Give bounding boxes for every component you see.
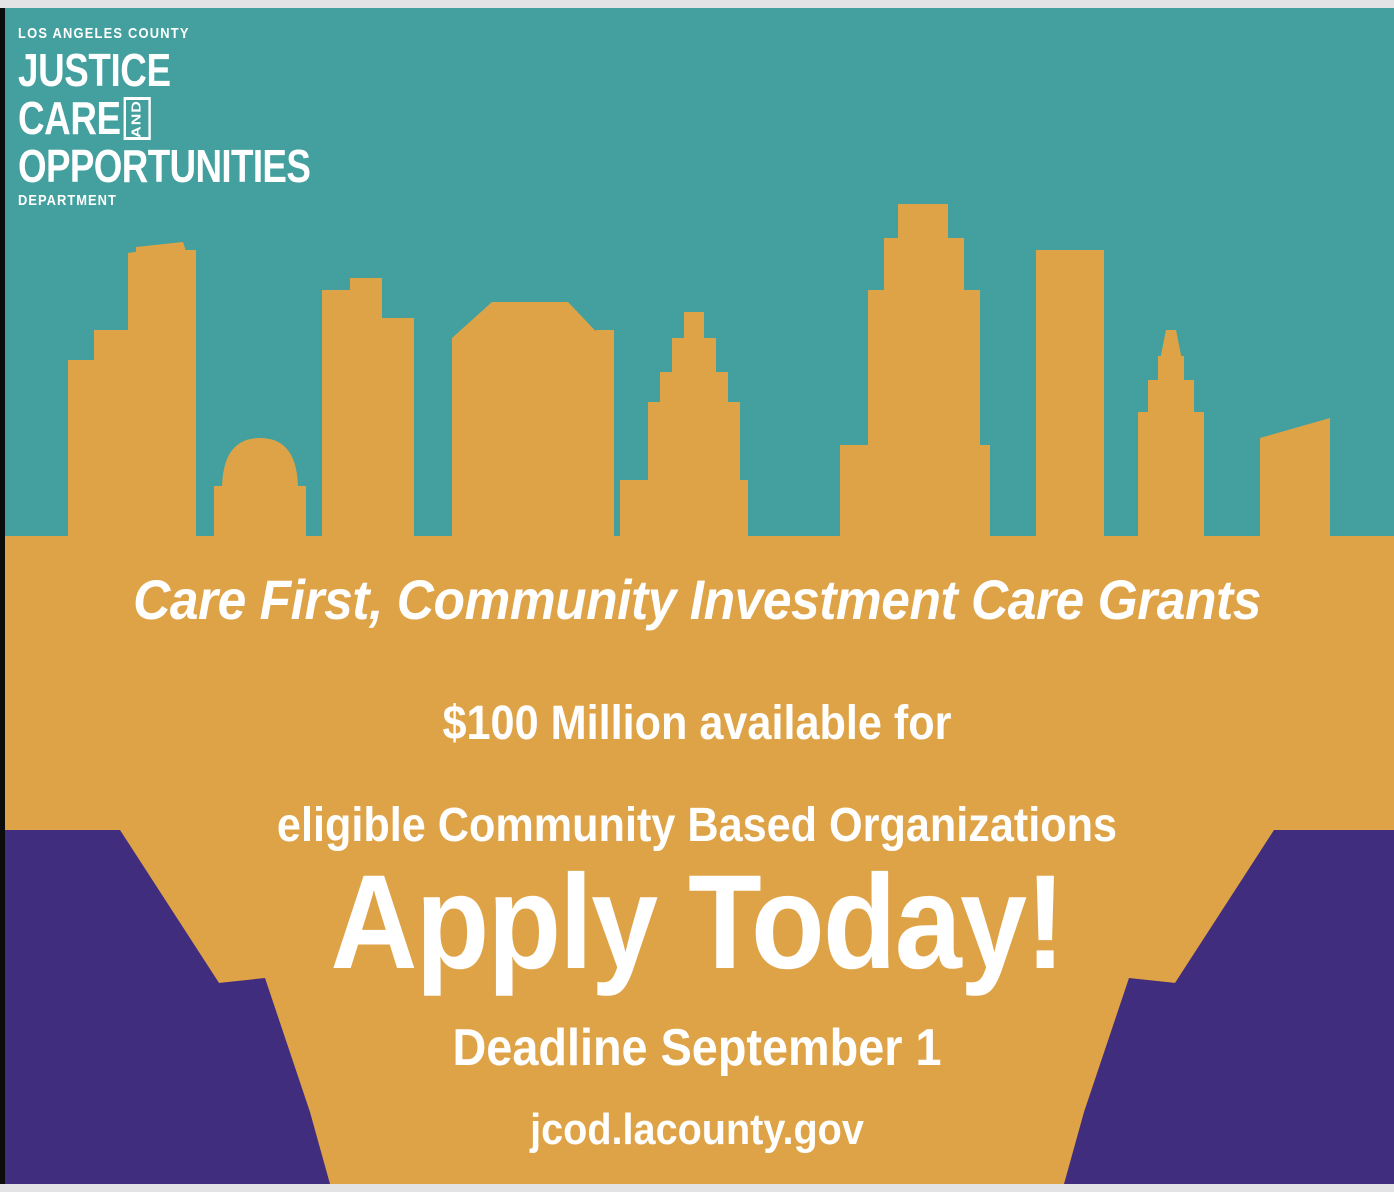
cta-website-url[interactable]: jcod.lacounty.gov — [70, 1074, 1325, 1152]
logo-row-care-and: CARE AND — [18, 95, 310, 141]
logo-and-badge: AND — [124, 97, 151, 140]
poster-subline-amount: $100 Million available for — [70, 628, 1325, 748]
copy-block: Care First, Community Investment Care Gr… — [0, 536, 1394, 850]
top-edge-strip — [0, 0, 1394, 8]
logo-department-line: DEPARTMENT — [18, 193, 332, 208]
logo-word-justice: JUSTICE — [18, 47, 310, 93]
jcod-logo: LOS ANGELES COUNTY JUSTICE CARE AND OPPO… — [18, 26, 383, 208]
poster-subline-eligibility: eligible Community Based Organizations — [70, 748, 1325, 850]
cta-apply-today: Apply Today! — [70, 856, 1325, 990]
cta-deadline: Deadline September 1 — [70, 990, 1325, 1074]
logo-word-opportunities: OPPORTUNITIES — [18, 143, 310, 189]
skyline-silhouette — [0, 190, 1394, 538]
poster-headline: Care First, Community Investment Care Gr… — [56, 536, 1338, 628]
bottom-edge-strip — [0, 1184, 1394, 1192]
call-to-action-block: Apply Today! Deadline September 1 jcod.l… — [0, 856, 1394, 1152]
logo-word-care: CARE — [18, 95, 121, 141]
poster-canvas: LOS ANGELES COUNTY JUSTICE CARE AND OPPO… — [0, 0, 1394, 1192]
logo-and-text: AND — [131, 100, 144, 138]
logo-county-line: LOS ANGELES COUNTY — [18, 26, 332, 41]
left-edge-rail — [0, 8, 5, 1184]
